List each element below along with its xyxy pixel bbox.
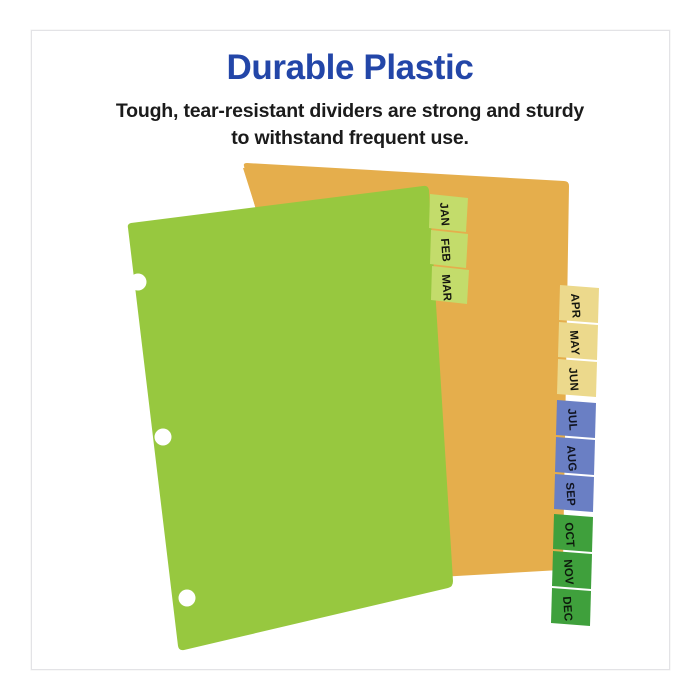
tab-label-mar: MAR — [439, 274, 453, 302]
product-image-canvas: Durable Plastic Tough, tear-resistant di… — [0, 0, 700, 700]
page-subtitle-line-1: Tough, tear-resistant dividers are stron… — [60, 98, 640, 125]
tab-label-feb: FEB — [438, 238, 452, 262]
tab-label-jan: JAN — [437, 202, 451, 226]
tab-label-sep: SEP — [563, 482, 577, 506]
green-sheet-punch-hole-3 — [179, 590, 196, 607]
page-subtitle-line-2: to withstand frequent use. — [60, 125, 640, 152]
tab-label-dec: DEC — [560, 596, 574, 622]
page-title: Durable Plastic — [0, 48, 700, 88]
product-illustration: JAN FEB MAR APR MAY JUN JUL AUG SEP OCT … — [32, 150, 670, 670]
green-sheet-silhouette — [128, 186, 453, 650]
green-divider-sheet — [128, 186, 453, 650]
tab-label-may: MAY — [567, 330, 581, 356]
tab-label-jul: JUL — [565, 408, 579, 431]
green-sheet-punch-hole-1 — [130, 274, 147, 291]
tab-label-aug: AUG — [564, 445, 578, 472]
tab-label-apr: APR — [568, 293, 582, 319]
tab-label-jun: JUN — [566, 367, 580, 391]
tab-label-nov: NOV — [561, 559, 575, 585]
green-sheet-punch-hole-2 — [155, 429, 172, 446]
page-subtitle: Tough, tear-resistant dividers are stron… — [60, 98, 640, 152]
tab-label-oct: OCT — [562, 522, 576, 548]
